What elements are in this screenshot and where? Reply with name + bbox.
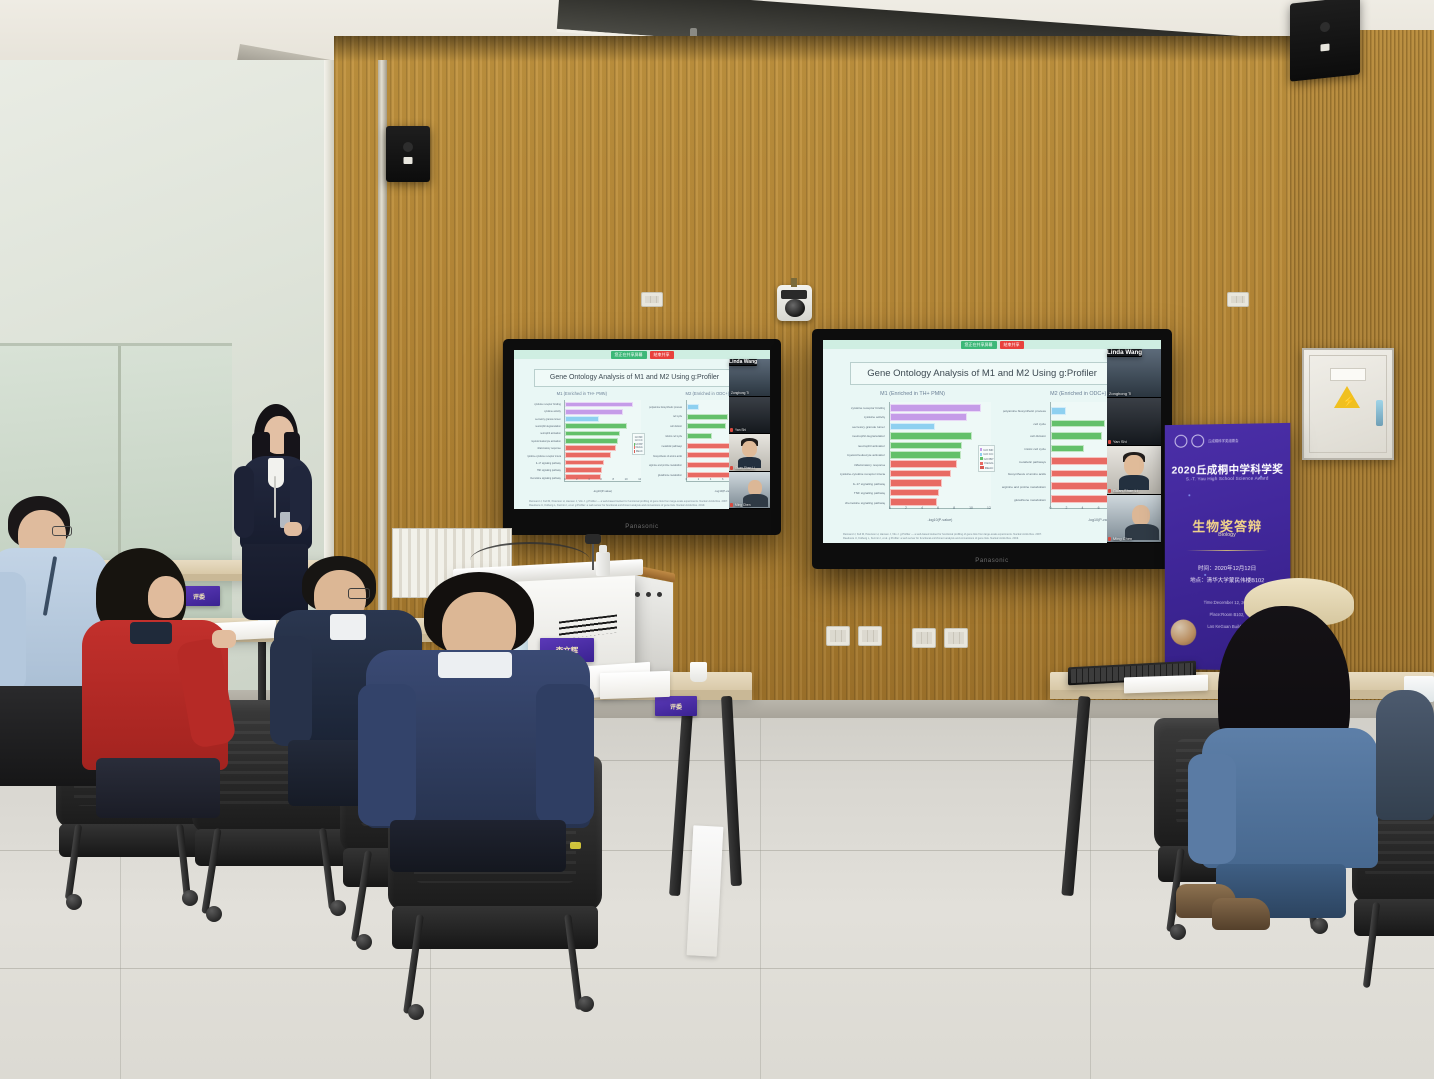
y-tick-label: secretory granule lumen [852, 423, 885, 431]
outlet-slots [916, 632, 932, 644]
y-tick-label: cytokine activity [544, 409, 561, 415]
bar-row [890, 489, 991, 497]
x-tick-label: 2 [576, 478, 577, 488]
bar-row [565, 431, 641, 437]
footnote-2: Raudvere U, Kolberg L, Kuzmin I, et al. … [843, 537, 1148, 541]
x-tick-label: 4 [921, 506, 923, 516]
participant-tile[interactable]: Linda Wang [1107, 349, 1142, 357]
left-interactive-display[interactable]: 您正在共享屏幕 结束共享 Gene Ontology Analysis of M… [503, 339, 781, 535]
chart-m1-plot [889, 402, 991, 509]
camera-mount [791, 278, 797, 287]
bar-row [890, 460, 991, 468]
bar [565, 460, 604, 466]
shirt-collar [330, 614, 366, 640]
panel-label [1330, 368, 1366, 381]
legend-label: GO:CC [983, 452, 993, 456]
participant-tile[interactable]: Ming Chen [729, 472, 770, 510]
y-tick-label: myeloid leukocyte activation [531, 438, 561, 444]
bar-row [890, 404, 991, 412]
chart-legend: GO:MFGO:CCGO:BPKEGGREAC [978, 445, 995, 472]
x-tick-label: 10 [625, 478, 628, 488]
x-tick-label: 2 [1066, 506, 1068, 516]
y-tick-label: metabolic pathways [661, 443, 682, 449]
bar [890, 460, 957, 468]
participant-name: Guan-Shan Li [735, 466, 755, 470]
speaker-led [404, 157, 413, 164]
warning-triangle-icon [1334, 386, 1360, 408]
microphone-icon [585, 534, 601, 544]
switch-rockers [1231, 296, 1245, 303]
active-speaker-name: Linda Wang [729, 359, 757, 365]
bar-row [565, 460, 641, 466]
participant-face [748, 480, 762, 496]
legend-label: GO:MF [983, 448, 993, 452]
bar-row [565, 402, 641, 408]
bar-row [565, 452, 641, 458]
hand [284, 522, 302, 536]
bar [890, 470, 950, 478]
footnote-2: Raudvere U, Kolberg L, Kuzmin I, et al. … [529, 504, 760, 508]
camera-sensor-strip [781, 290, 807, 299]
wall-shadow [334, 36, 1434, 62]
camera-lens [785, 299, 805, 317]
outlet-slots [862, 630, 878, 642]
electrical-panel[interactable] [1302, 348, 1394, 460]
y-tick-label: myeloid leukocyte activation [847, 451, 886, 459]
legend-item: GO:MF [980, 448, 993, 452]
university-seal-icon [1191, 434, 1204, 447]
mic-muted-icon [1108, 489, 1111, 493]
participant-tile[interactable]: Ming Chen [1107, 495, 1161, 544]
legend-item: KEGG [980, 461, 993, 465]
bar [687, 423, 726, 429]
bar [565, 445, 616, 451]
participant-name: Ming Chen [1113, 536, 1132, 541]
chart-title-m1: M1 (Enriched in TH+ PMN) [519, 391, 644, 396]
conference-room-scene: 您正在共享屏幕 结束共享 Gene Ontology Analysis of M… [0, 0, 1434, 1079]
bar [890, 413, 967, 421]
poster-divider [1186, 550, 1268, 551]
bar-row [890, 442, 991, 450]
legend-label: GO:BP [984, 457, 994, 461]
x-tick-label: 6 [1098, 506, 1100, 516]
legend-swatch [980, 453, 982, 456]
chart-m1: cytokine receptor bindingcytokine activi… [527, 400, 644, 492]
bar [565, 409, 623, 415]
legend-item: GO:BP [980, 457, 993, 461]
participant-tile[interactable]: Guan-Shan Li [729, 434, 770, 472]
y-tick-label: IL-17 signaling pathway [536, 460, 561, 466]
wall-outlet-plate[interactable] [826, 626, 850, 646]
x-tick-label: 2 [698, 478, 699, 488]
y-tick-label: cytokine-cytokine receptor interaction [527, 453, 561, 459]
y-tick-label: biosynthesis of amino acids [653, 453, 682, 459]
chair-caster [206, 906, 222, 922]
left-participant-rail[interactable]: Zonghong TiYan ShiGuan-Shan LiLinda Wang… [729, 359, 770, 509]
y-tick-label: inflammatory response [537, 446, 561, 452]
trousers [96, 758, 220, 818]
y-tick-label: neutrophil activation [540, 431, 561, 437]
boot [1212, 898, 1270, 930]
y-tick-label: TNF signaling pathway [537, 468, 561, 474]
participant-tile[interactable]: Guan-Shan Li [1107, 446, 1161, 495]
bar [565, 431, 620, 437]
participant-name: Yan Shi [735, 428, 746, 432]
mic-muted-icon [730, 503, 733, 507]
legend-item: REAC [980, 466, 993, 470]
x-tick-label: 6 [722, 478, 723, 488]
wall-speaker-icon [386, 126, 430, 182]
wall-outlet-plate[interactable] [858, 626, 882, 646]
stop-share-chip[interactable]: 结束共享 [650, 351, 674, 359]
participant-face [1124, 455, 1143, 477]
x-tick-label: 0 [564, 478, 565, 488]
ptz-camera-icon [777, 285, 812, 321]
y-tick-label: arginine and proline metabolism [649, 463, 683, 469]
bar [565, 438, 618, 444]
chart-m1: cytokine receptor bindingcytokine activi… [840, 402, 994, 522]
poster-org-text: 丘成桐科学奖组委会 [1208, 438, 1238, 443]
participant-face [742, 441, 757, 458]
bar [565, 416, 599, 422]
y-tick-label: chemokine signaling pathway [530, 475, 561, 481]
microphone-stand [592, 540, 594, 570]
judge-name-card: 评委 [655, 696, 697, 716]
participant-tile[interactable]: Yan Shi [729, 397, 770, 435]
bar [890, 479, 942, 487]
slide-footnotes: Reimand J, Kull M, Peterson H, Hansen J,… [529, 500, 760, 508]
legend-item: REAC [634, 450, 643, 453]
bar [1051, 432, 1103, 440]
person-judge-2 [82, 548, 228, 818]
bar [890, 498, 937, 506]
bar-row [890, 423, 991, 431]
bar [687, 404, 699, 410]
speaker-tweeter [1320, 21, 1330, 32]
chair-caster [578, 996, 594, 1012]
y-tick-label: polyamine biosynthetic process [1003, 407, 1046, 415]
chair-caster [356, 934, 372, 950]
slide-title: Gene Ontology Analysis of M1 and M2 Usin… [867, 368, 1097, 379]
y-tick-label: cytokine activity [864, 413, 886, 421]
bar [687, 433, 712, 439]
screen-share-bar: 您正在共享屏幕 结束共享 [823, 340, 1161, 349]
bar-row [890, 470, 991, 478]
share-status-chip: 您正在共享屏幕 [611, 351, 647, 359]
y-tick-label: cell cycle [673, 414, 683, 420]
person-judge-4 [366, 572, 590, 872]
display-brand: Panasonic [975, 558, 1008, 564]
x-tick-label: 12 [638, 478, 641, 488]
poster-logos: 丘成桐科学奖组委会 [1175, 434, 1239, 448]
poster-time-cn: 时间：2020年12月12日 [1165, 564, 1291, 572]
chair-caster [1170, 924, 1186, 940]
x-tick-label: 4 [588, 478, 589, 488]
participant-face [1132, 505, 1150, 526]
mic-muted-icon [730, 428, 733, 432]
chart-m1-plot [564, 400, 641, 482]
glasses-icon [52, 526, 72, 536]
paper-cup [690, 662, 707, 682]
bar [890, 432, 972, 440]
inner-collar [130, 622, 172, 644]
mic-muted-icon [1108, 440, 1111, 444]
y-tick-label: secretory granule lumen [535, 416, 561, 422]
active-speaker-name: Linda Wang [1107, 349, 1142, 356]
right-interactive-display[interactable]: 您正在共享屏幕 结束共享 Gene Ontology Analysis of M… [812, 329, 1172, 569]
x-tick-label: 2 [905, 506, 907, 516]
wall-outlet-plate[interactable] [912, 628, 936, 648]
outlet-slots [830, 630, 846, 642]
bar-row [890, 451, 991, 459]
bar [1051, 420, 1106, 428]
legend-item: GO:CC [980, 452, 993, 456]
x-tick-label: 12 [987, 506, 991, 516]
x-tick-label: 0 [889, 506, 891, 516]
legend-swatch [634, 450, 635, 453]
x-tick-label: 4 [1082, 506, 1084, 516]
y-tick-label: glutathione metabolism [658, 473, 683, 479]
y-tick-label: cell division [670, 424, 682, 430]
bar-row [890, 432, 991, 440]
chart-m1-bars [565, 400, 641, 481]
slide-title-box: Gene Ontology Analysis of M1 and M2 Usin… [850, 362, 1115, 385]
slide-title-box: Gene Ontology Analysis of M1 and M2 Usin… [534, 369, 735, 387]
legend-label: REAC [985, 466, 994, 470]
trousers [390, 820, 566, 872]
y-tick-label: inflammatory response [854, 461, 885, 469]
x-tick-label: 8 [613, 478, 614, 488]
x-tick-label: 0 [1050, 506, 1052, 516]
legend-label: KEGG [984, 461, 993, 465]
y-tick-label: chemokine signaling pathway [845, 499, 886, 507]
bar-row [890, 498, 991, 506]
bar [687, 414, 728, 420]
participant-name: Zonghong Ti [731, 391, 749, 395]
chart-m1-ylabels: cytokine receptor bindingcytokine activi… [527, 400, 563, 482]
right-screen[interactable]: 您正在共享屏幕 结束共享 Gene Ontology Analysis of M… [823, 340, 1161, 543]
y-tick-label: mitotic cell cycle [665, 433, 682, 439]
switch-rockers [645, 296, 659, 303]
chair-caster [1312, 918, 1328, 934]
y-tick-label: mitotic cell cycle [1024, 445, 1046, 453]
y-tick-label: cytokine-cytokine receptor interaction [840, 470, 886, 478]
y-tick-label: glutathione metabolism [1014, 496, 1046, 504]
chart-title-m1: M1 (Enriched in TH+ PMN) [830, 391, 996, 397]
lectern-controls[interactable] [635, 592, 669, 598]
participant-tile[interactable]: Linda Wang [729, 359, 757, 366]
x-tick-label: 0 [686, 478, 687, 488]
y-tick-label: neutrophil degranulation [852, 432, 885, 440]
bar [1051, 407, 1067, 415]
left-screen[interactable]: 您正在共享屏幕 结束共享 Gene Ontology Analysis of M… [514, 350, 770, 509]
y-tick-label: cell cycle [1033, 420, 1046, 428]
poster-subject-en: Biology [1165, 532, 1291, 538]
hand-sanitizer-bottle [596, 552, 610, 576]
mic-muted-icon [1108, 537, 1111, 541]
x-tick-label: 6 [937, 506, 939, 516]
y-tick-label: neutrophil degranulation [535, 424, 561, 430]
person-partial-right [1376, 660, 1434, 820]
legend-label: REAC [636, 450, 643, 453]
outlet-slots [948, 632, 964, 644]
wall-outlet-plate[interactable] [944, 628, 968, 648]
hand [212, 630, 236, 648]
chart-legend: GO:MFGO:CCGO:BPKEGGREAC [632, 433, 645, 455]
bar [1051, 445, 1084, 453]
screen-share-bar: 您正在共享屏幕 结束共享 [514, 350, 770, 359]
chart-m1-xaxis: 024681012 [889, 506, 991, 516]
collar [268, 458, 284, 488]
poster-title-en: S.-T. Yau High School Science Award [1165, 475, 1291, 481]
legend-swatch [980, 457, 982, 460]
bar [890, 451, 961, 459]
y-tick-label: arginine and proline metabolism [1002, 483, 1046, 491]
x-tick-label: 10 [969, 506, 973, 516]
y-tick-label: metabolic pathways [1019, 458, 1046, 466]
x-tick-label: 8 [953, 506, 955, 516]
ceiling-speaker-icon [1290, 0, 1360, 82]
bar [565, 423, 627, 429]
chart-m1-xlabel: -log10(P-value) [564, 489, 641, 493]
bar-row [565, 445, 641, 451]
bar [565, 402, 633, 408]
legend-swatch [980, 466, 983, 469]
share-status-chip: 您正在共享屏幕 [961, 341, 997, 349]
slide-footnotes: Reimand J, Kull M, Peterson H, Hansen J,… [843, 533, 1148, 541]
shirt-collar [438, 652, 512, 678]
y-tick-label: neutrophil activation [858, 442, 886, 450]
bar-row [890, 413, 991, 421]
participant-name: Guan-Shan Li [1113, 488, 1138, 493]
participant-name: Yan Shi [1113, 439, 1127, 444]
legend-swatch [980, 448, 982, 451]
panel-handle[interactable] [1376, 400, 1383, 426]
bar [890, 442, 962, 450]
stop-share-chip[interactable]: 结束共享 [1000, 341, 1024, 349]
bar-row [565, 416, 641, 422]
display-brand: Panasonic [625, 524, 658, 530]
participant-tile[interactable]: Yan Shi [1107, 398, 1161, 447]
bar-row [565, 409, 641, 415]
y-tick-label: biosynthesis of amino acids [1008, 470, 1046, 478]
bar-row [565, 423, 641, 429]
bar-row [890, 479, 991, 487]
chair-caster [66, 894, 82, 910]
chart-m1-xlabel: -log10(P-value) [889, 518, 991, 522]
chart-m1-bars [890, 402, 991, 508]
chart-m2-ylabels: polyamine biosynthetic processcell cycle… [1000, 402, 1048, 509]
wall-switch-plate[interactable] [1227, 292, 1249, 307]
y-tick-label: cell division [1030, 432, 1046, 440]
y-tick-label: polyamine biosynthetic process [649, 404, 682, 410]
y-tick-label: cytokine receptor binding [534, 402, 561, 408]
y-tick-label: TNF signaling pathway [854, 489, 886, 497]
bar [890, 423, 935, 431]
bar [890, 489, 939, 497]
legend-swatch [980, 462, 983, 465]
wall-switch-plate[interactable] [641, 292, 663, 307]
y-tick-label: IL-17 signaling pathway [853, 480, 886, 488]
participant-name: Ming Chen [735, 503, 750, 507]
chart-m2-ylabels: polyamine biosynthetic processcell cycle… [648, 400, 684, 482]
award-seal-icon [1175, 435, 1188, 448]
chart-m1-ylabels: cytokine receptor bindingcytokine activi… [840, 402, 888, 509]
right-participant-rail[interactable]: Zonghong TiYan ShiGuan-Shan LiLinda Wang… [1107, 349, 1161, 543]
participant-name: Zonghong Ti [1109, 391, 1131, 396]
person-observer [1194, 578, 1374, 918]
bar [565, 467, 602, 473]
papers [600, 671, 670, 699]
mic-muted-icon [730, 466, 733, 470]
bar [890, 404, 981, 412]
speaker-led [1321, 43, 1330, 51]
y-tick-label: cytokine receptor binding [851, 404, 886, 412]
slide-title: Gene Ontology Analysis of M1 and M2 Usin… [550, 374, 719, 381]
chart-m1-xaxis: 024681012 [564, 478, 641, 488]
x-tick-label: 4 [710, 478, 711, 488]
speaker-tweeter [403, 142, 413, 152]
bar-row [565, 467, 641, 473]
x-tick-label: 6 [600, 478, 601, 488]
bar [565, 452, 611, 458]
bar-row [565, 438, 641, 444]
chair-caster [408, 1004, 424, 1020]
